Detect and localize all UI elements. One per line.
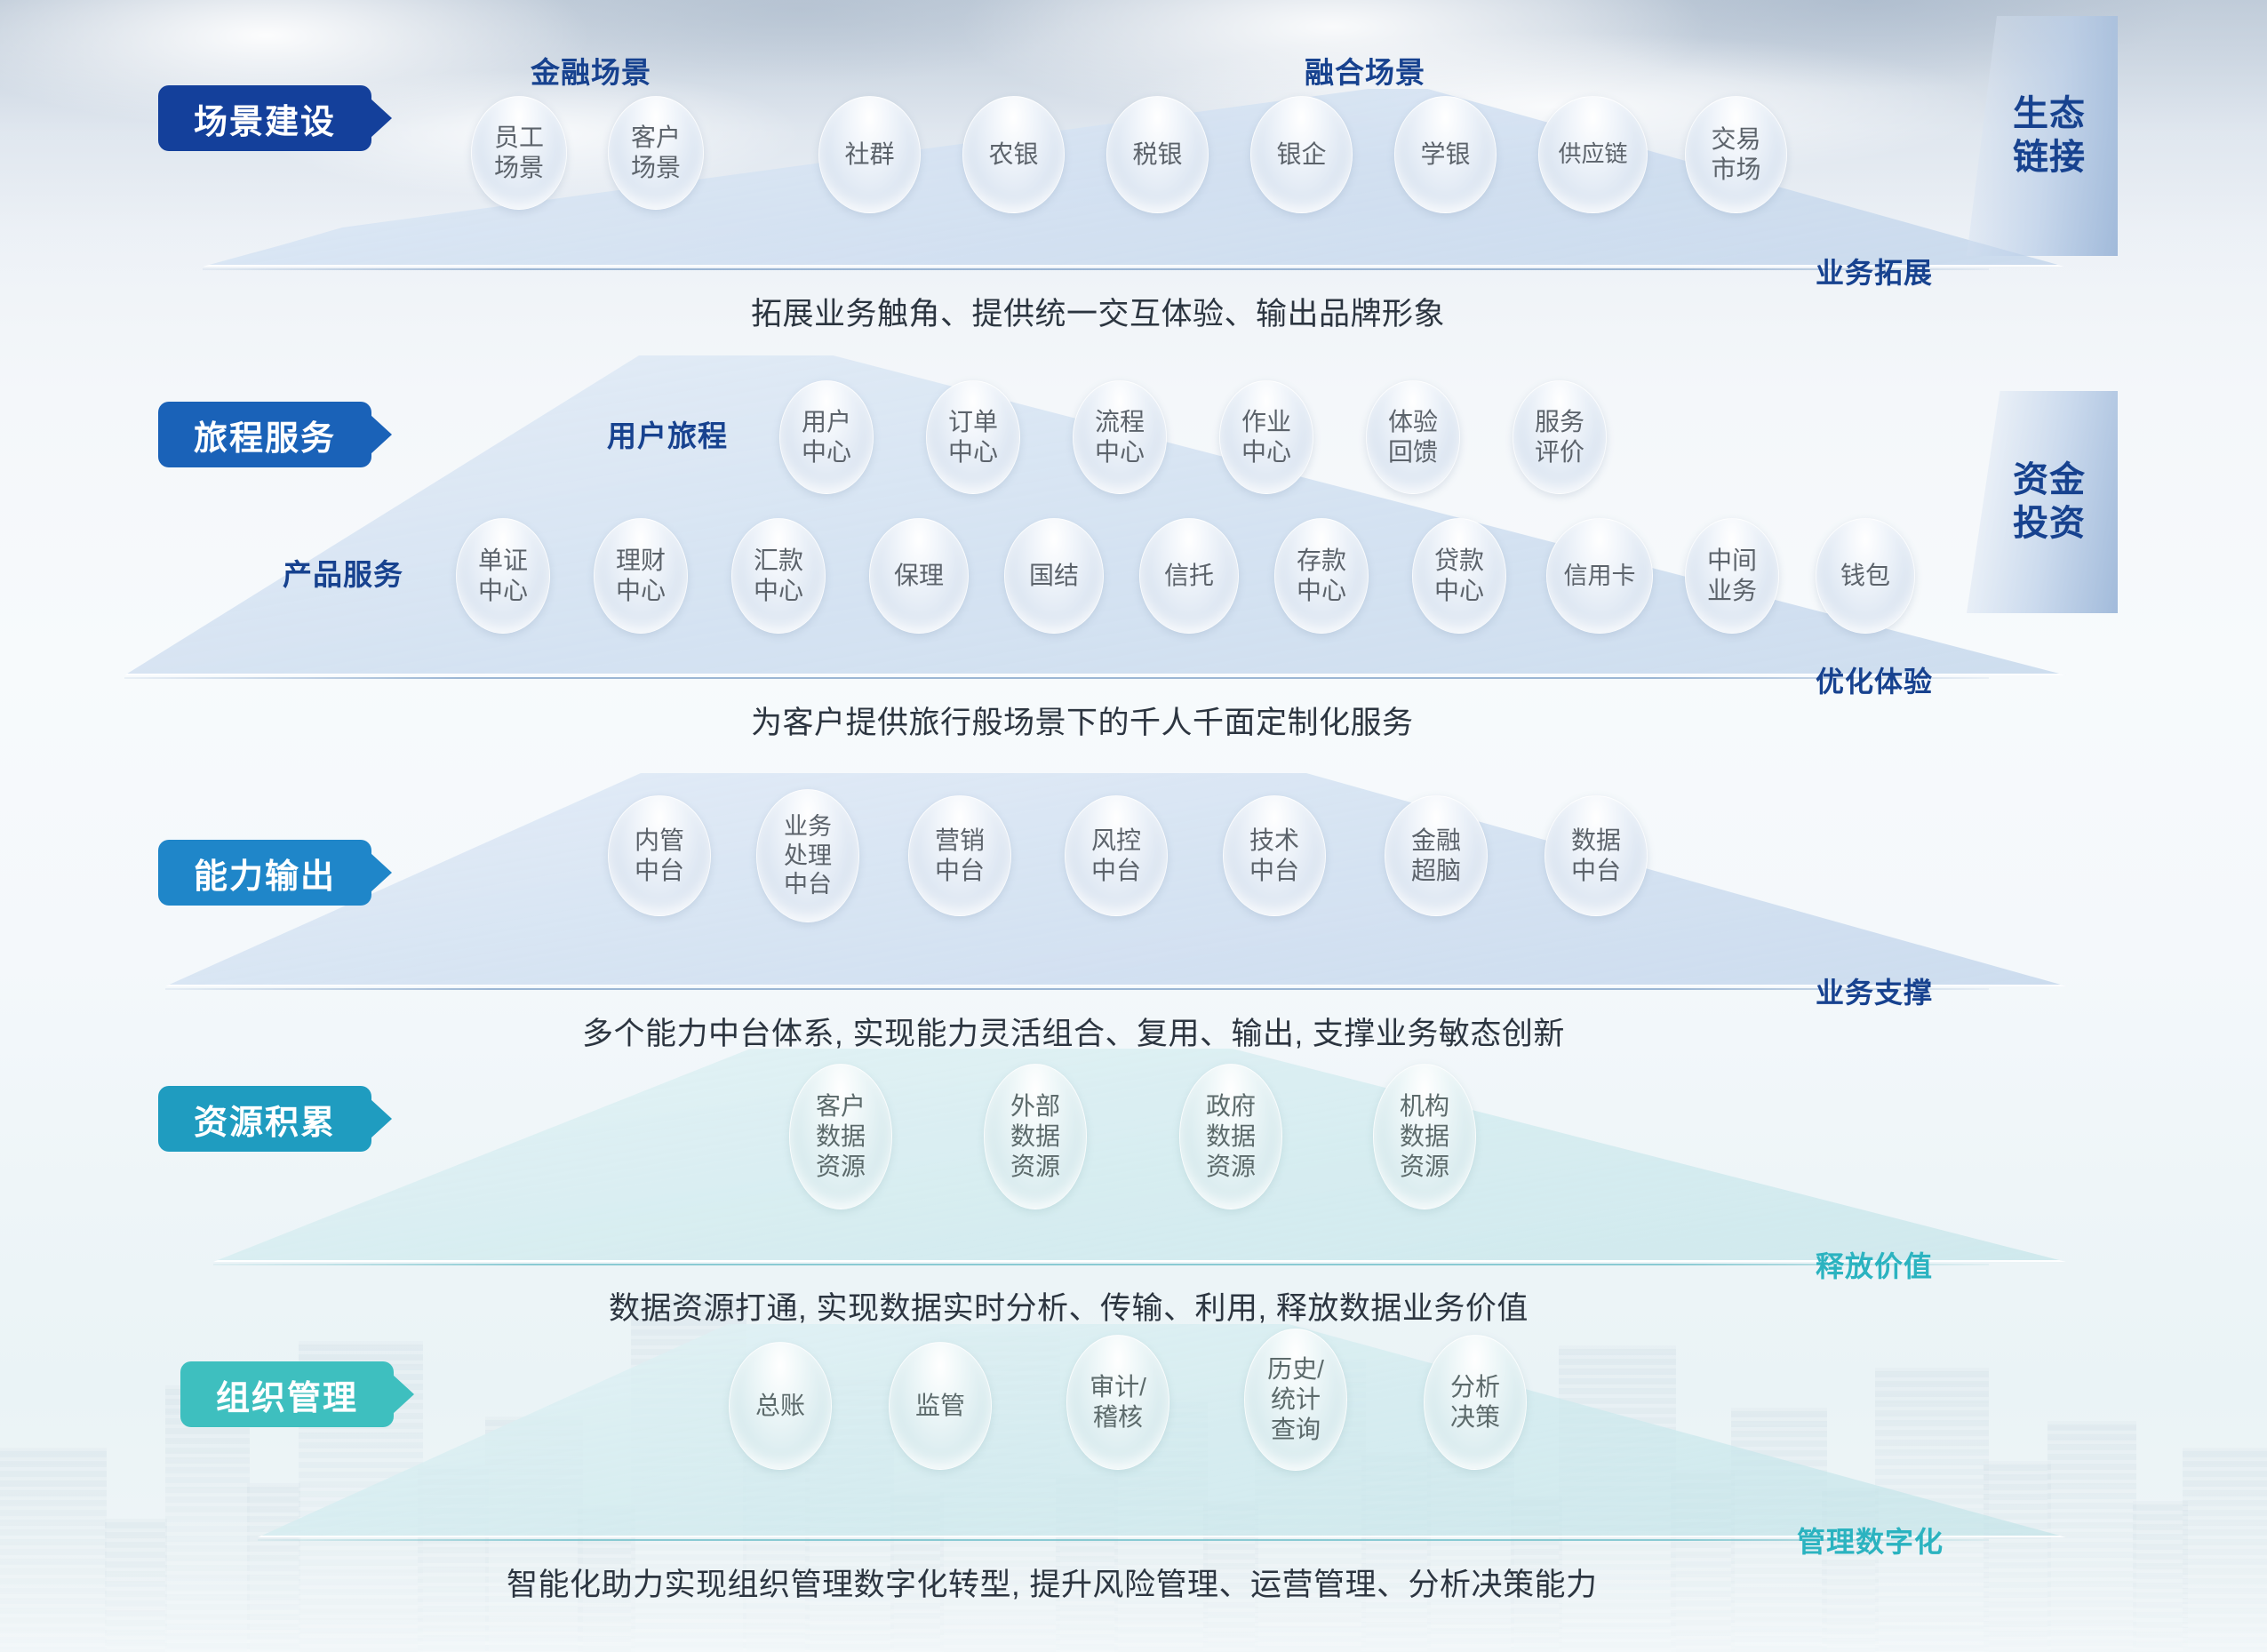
bubble-line: 银企 — [1276, 140, 1326, 170]
bubble-line: 作业 — [1241, 407, 1291, 437]
bubble-line: 资源 — [1010, 1152, 1060, 1182]
bubble-financial-brain[interactable]: 金融 超脑 — [1385, 795, 1488, 916]
bubble-line: 保理 — [894, 561, 944, 591]
bubble-external-data-resource[interactable]: 外部 数据 资源 — [984, 1064, 1087, 1209]
bubble-data-platform[interactable]: 数据 中台 — [1545, 795, 1648, 916]
bubble-line: 资源 — [1400, 1152, 1449, 1182]
layer-badge-organization[interactable]: 组织管理 — [180, 1361, 394, 1427]
building-silhouette — [105, 1519, 167, 1652]
bubble-deposit-center[interactable]: 存款 中心 — [1274, 518, 1369, 634]
bubble-supply-chain[interactable]: 供应链 — [1538, 96, 1648, 213]
bubble-line: 资源 — [1206, 1152, 1256, 1182]
bubble-document-center[interactable]: 单证 中心 — [456, 518, 550, 634]
bubble-line: 税银 — [1132, 140, 1182, 170]
bubble-line: 中心 — [1095, 437, 1145, 467]
bubble-line: 学银 — [1420, 140, 1470, 170]
right-tag-release-value: 释放价值 — [1816, 1244, 1933, 1285]
bubble-line: 超脑 — [1411, 856, 1461, 886]
bubble-line: 监管 — [915, 1391, 965, 1421]
bubble-bank-enterprise[interactable]: 银企 — [1250, 96, 1353, 213]
bubble-employee-scene[interactable]: 员工 场景 — [471, 96, 567, 210]
bubble-line: 金融 — [1411, 826, 1461, 856]
bubble-line: 中心 — [948, 437, 998, 467]
bubble-audit-inspection[interactable]: 审计/ 稽核 — [1066, 1335, 1169, 1470]
divider-scene — [203, 268, 1989, 270]
bubble-line: 业务 — [1707, 576, 1757, 606]
bubble-factoring[interactable]: 保理 — [869, 518, 969, 634]
bubble-tech-platform[interactable]: 技术 中台 — [1223, 795, 1326, 916]
divider-journey — [124, 677, 1989, 679]
bubble-line: 国结 — [1029, 561, 1079, 591]
layer-badge-capability[interactable]: 能力输出 — [158, 840, 371, 906]
bubble-line: 社群 — [844, 140, 894, 170]
bubble-tax-bank[interactable]: 税银 — [1106, 96, 1209, 213]
building-silhouette — [0, 1448, 107, 1652]
row-label-user-journey: 用户旅程 — [607, 412, 728, 455]
bubble-operation-center[interactable]: 作业 中心 — [1219, 380, 1313, 494]
bubble-line: 数据 — [816, 1121, 866, 1152]
bubble-line: 订单 — [948, 407, 998, 437]
bubble-line: 中心 — [802, 437, 851, 467]
bubble-school-bank[interactable]: 学银 — [1394, 96, 1497, 213]
bubble-line: 服务 — [1535, 407, 1585, 437]
bubble-line: 数据 — [1206, 1121, 1256, 1152]
bubble-line: 总账 — [755, 1391, 805, 1421]
bubble-line: 存款 — [1297, 546, 1346, 576]
bubble-line: 中台 — [635, 856, 684, 886]
divider-organization — [258, 1539, 1989, 1541]
group-title-fusion-scene: 融合场景 — [1305, 49, 1425, 92]
bubble-business-process-platform[interactable]: 业务 处理 中台 — [756, 789, 859, 922]
bubble-line: 中心 — [1241, 437, 1291, 467]
bubble-internal-mgmt-platform[interactable]: 内管 中台 — [608, 795, 711, 916]
bubble-line: 交易 — [1711, 124, 1760, 155]
bubble-credit-card[interactable]: 信用卡 — [1546, 518, 1653, 634]
bubble-line: 信托 — [1164, 561, 1214, 591]
bubble-line: 处理 — [784, 842, 832, 871]
ribbon-fund-line-2: 投资 — [2013, 502, 2086, 546]
bubble-line: 业务 — [784, 812, 832, 842]
bubble-intl-settlement[interactable]: 国结 — [1004, 518, 1104, 634]
bubble-line: 中心 — [1297, 576, 1346, 606]
bubble-line: 统计 — [1271, 1385, 1321, 1415]
bubble-risk-platform[interactable]: 风控 中台 — [1065, 795, 1168, 916]
layer-badge-journey-label: 旅程服务 — [194, 411, 336, 459]
bubble-line: 数据 — [1010, 1121, 1060, 1152]
bubble-intermediary-business[interactable]: 中间 业务 — [1685, 518, 1779, 634]
bubble-line: 单证 — [478, 546, 528, 576]
bubble-line: 中台 — [1091, 856, 1141, 886]
right-tag-business-expand: 业务拓展 — [1816, 251, 1933, 291]
bubble-line: 数据 — [1571, 826, 1621, 856]
bubble-line: 决策 — [1450, 1402, 1500, 1433]
bubble-remittance-center[interactable]: 汇款 中心 — [731, 518, 826, 634]
caption-organization: 智能化助力实现组织管理数字化转型, 提升风险管理、运营管理、分析决策能力 — [507, 1560, 1597, 1605]
bubble-line: 技术 — [1249, 826, 1299, 856]
bubble-agri-bank[interactable]: 农银 — [962, 96, 1065, 213]
bubble-line: 数据 — [1400, 1121, 1449, 1152]
bubble-line: 中台 — [935, 856, 985, 886]
divider-capability — [165, 988, 1989, 990]
bubble-analysis-decision[interactable]: 分析 决策 — [1424, 1335, 1527, 1470]
layer-badge-capability-label: 能力输出 — [194, 849, 336, 898]
tier-resource — [213, 1049, 2066, 1262]
bubble-line: 员工 — [494, 123, 544, 153]
bubble-line: 中间 — [1707, 546, 1757, 576]
caption-resource: 数据资源打通, 实现数据实时分析、传输、利用, 释放数据业务价值 — [609, 1283, 1529, 1329]
bubble-line: 流程 — [1095, 407, 1145, 437]
bubble-trade-market[interactable]: 交易 市场 — [1685, 96, 1787, 213]
layer-badge-resource[interactable]: 资源积累 — [158, 1086, 371, 1152]
ribbon-eco-link: 生态 链接 — [1967, 16, 2118, 256]
bubble-line: 政府 — [1206, 1091, 1256, 1121]
bubble-line: 农银 — [988, 140, 1038, 170]
bubble-line: 中心 — [478, 576, 528, 606]
bubble-trust[interactable]: 信托 — [1139, 518, 1239, 634]
ribbon-eco-line-2: 链接 — [2013, 136, 2086, 180]
right-tag-business-support: 业务支撑 — [1816, 970, 1933, 1011]
ribbon-eco-line-1: 生态 — [2013, 92, 2086, 136]
bubble-line: 机构 — [1400, 1091, 1449, 1121]
bubble-institution-data-resource[interactable]: 机构 数据 资源 — [1373, 1064, 1476, 1209]
bubble-line: 钱包 — [1840, 561, 1890, 591]
bubble-line: 稽核 — [1093, 1402, 1143, 1433]
bubble-line: 场景 — [494, 153, 544, 183]
bubble-community[interactable]: 社群 — [818, 96, 921, 213]
layer-badge-journey[interactable]: 旅程服务 — [158, 402, 371, 467]
bubble-line: 历史/ — [1267, 1354, 1324, 1385]
bubble-line: 回馈 — [1388, 437, 1438, 467]
bubble-customer-data-resource[interactable]: 客户 数据 资源 — [789, 1064, 892, 1209]
building-silhouette — [1984, 1461, 2051, 1652]
bubble-line: 贷款 — [1434, 546, 1484, 576]
bubble-line: 内管 — [635, 826, 684, 856]
bubble-line: 中台 — [1571, 856, 1621, 886]
building-silhouette — [247, 1483, 300, 1652]
right-tag-optimize-experience: 优化体验 — [1816, 659, 1933, 700]
bubble-loan-center[interactable]: 贷款 中心 — [1412, 518, 1506, 634]
bubble-line: 理财 — [616, 546, 666, 576]
bubble-line: 中心 — [754, 576, 803, 606]
bubble-customer-scene[interactable]: 客户 场景 — [608, 96, 704, 210]
bubble-line: 客户 — [631, 123, 681, 153]
bubble-line: 风控 — [1091, 826, 1141, 856]
bubble-line: 审计/ — [1090, 1372, 1146, 1402]
layer-badge-resource-label: 资源积累 — [194, 1095, 336, 1144]
bubble-line: 中心 — [1434, 576, 1484, 606]
bubble-line: 查询 — [1271, 1415, 1321, 1445]
divider-resource — [213, 1264, 1989, 1265]
bubble-line: 资源 — [816, 1152, 866, 1182]
bubble-line: 市场 — [1711, 155, 1760, 185]
bubble-user-center[interactable]: 用户 中心 — [779, 380, 874, 494]
bubble-general-ledger[interactable]: 总账 — [729, 1342, 832, 1470]
ribbon-fund-invest: 资金 投资 — [1967, 391, 2118, 613]
group-title-financial-scene: 金融场景 — [531, 49, 651, 92]
row-label-product-service: 产品服务 — [283, 551, 403, 594]
bubble-line: 中台 — [784, 870, 832, 899]
bubble-line: 信用卡 — [1564, 562, 1636, 591]
bubble-experience-feedback[interactable]: 体验 回馈 — [1366, 380, 1460, 494]
caption-capability: 多个能力中台体系, 实现能力灵活组合、复用、输出, 支撑业务敏态创新 — [582, 1009, 1565, 1054]
bubble-line: 中台 — [1249, 856, 1299, 886]
ribbon-fund-line-1: 资金 — [2013, 459, 2086, 502]
bubble-line: 用户 — [802, 407, 851, 437]
layer-badge-scene[interactable]: 场景建设 — [158, 85, 371, 151]
bubble-wallet[interactable]: 钱包 — [1816, 518, 1915, 634]
bubble-line: 中心 — [616, 576, 666, 606]
bubble-supervision[interactable]: 监管 — [889, 1342, 992, 1470]
bubble-line: 评价 — [1535, 437, 1585, 467]
caption-scene: 拓展业务触角、提供统一交互体验、输出品牌形象 — [751, 289, 1445, 334]
bubble-line: 场景 — [631, 153, 681, 183]
layer-badge-organization-label: 组织管理 — [216, 1370, 358, 1419]
bubble-process-center[interactable]: 流程 中心 — [1073, 380, 1167, 494]
bubble-line: 分析 — [1450, 1372, 1500, 1402]
right-tag-management-digitalization: 管理数字化 — [1797, 1520, 1944, 1560]
bubble-wealth-center[interactable]: 理财 中心 — [594, 518, 688, 634]
bubble-order-center[interactable]: 订单 中心 — [926, 380, 1020, 494]
bubble-line: 体验 — [1388, 407, 1438, 437]
bubble-line: 客户 — [816, 1091, 866, 1121]
building-silhouette — [2183, 1448, 2267, 1652]
bubble-line: 营销 — [935, 826, 985, 856]
bubble-government-data-resource[interactable]: 政府 数据 资源 — [1179, 1064, 1282, 1209]
bubble-marketing-platform[interactable]: 营销 中台 — [908, 795, 1011, 916]
caption-journey: 为客户提供旅行般场景下的千人千面定制化服务 — [751, 698, 1414, 743]
bubble-line: 外部 — [1010, 1091, 1060, 1121]
bubble-line: 供应链 — [1558, 140, 1627, 169]
bubble-line: 汇款 — [754, 546, 803, 576]
bubble-history-statistics-query[interactable]: 历史/ 统计 查询 — [1244, 1329, 1347, 1471]
layer-badge-scene-label: 场景建设 — [194, 94, 336, 143]
bubble-service-rating[interactable]: 服务 评价 — [1513, 380, 1607, 494]
building-silhouette — [2133, 1501, 2188, 1652]
